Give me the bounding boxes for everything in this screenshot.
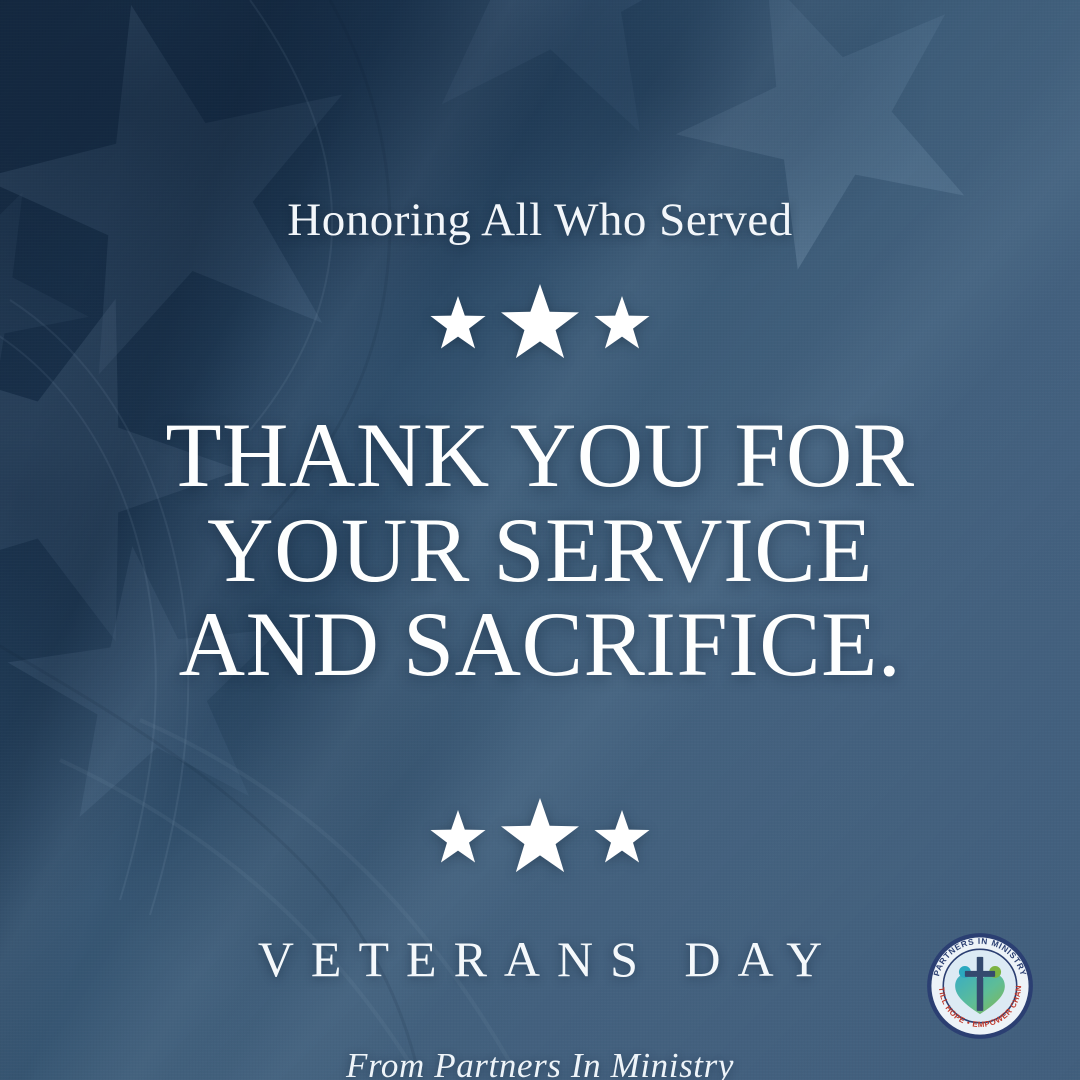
attribution-text: From Partners In Ministry [346,1048,734,1080]
star-divider-top [429,284,651,366]
headline-line-2: YOUR SERVICE [165,503,914,598]
headline-line-3: AND SACRIFICE. [165,597,914,692]
star-icon [429,296,487,354]
headline-line-1: THANK YOU FOR [165,408,914,503]
star-icon [593,810,651,868]
occasion-label: VETERANS DAY [241,934,839,984]
star-icon [499,798,581,880]
star-divider-bottom [429,798,651,880]
veterans-day-poster: Honoring All Who Served THANK YOU FOR YO… [0,0,1080,1080]
headline: THANK YOU FOR YOUR SERVICE AND SACRIFICE… [165,408,914,692]
partners-in-ministry-logo[interactable]: PARTNERS IN MINISTRY INSTILL HOPE • EMPO… [926,932,1034,1040]
star-icon [593,296,651,354]
eyebrow-text: Honoring All Who Served [287,196,792,246]
poster-content: Honoring All Who Served THANK YOU FOR YO… [0,0,1080,1080]
star-icon [429,810,487,868]
star-icon [499,284,581,366]
